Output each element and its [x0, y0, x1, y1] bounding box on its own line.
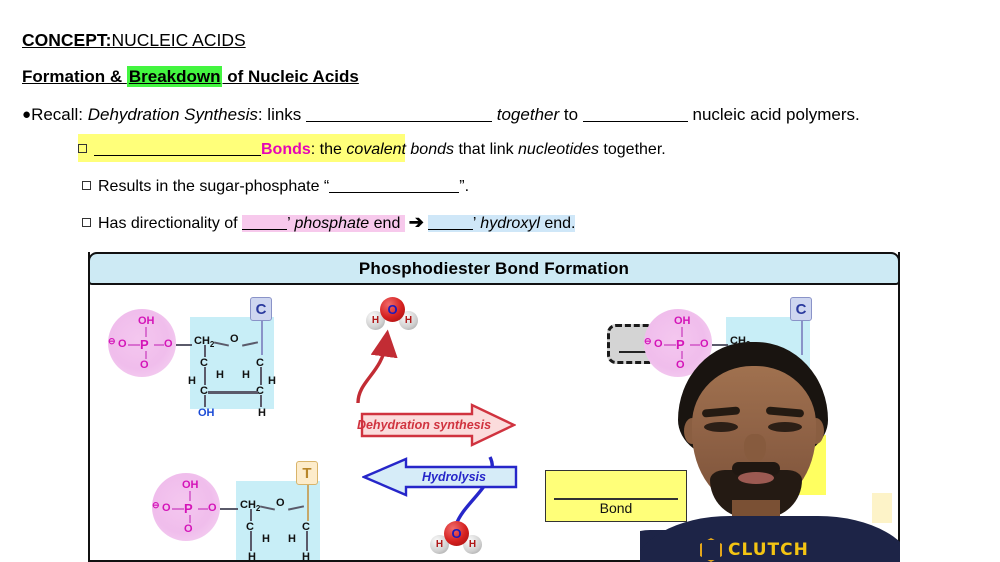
arrow-dehydration-synthesis: Dehydration synthesis — [360, 403, 516, 447]
bond-p-o-bottom — [189, 515, 191, 523]
nose — [744, 434, 766, 462]
bond-base-sugar — [307, 485, 309, 521]
bond-o-ch2 — [220, 508, 238, 510]
directionality-italic-1: phosphate — [294, 215, 369, 232]
right-arrow-icon: ➔ — [405, 212, 428, 232]
clutch-logo-text: CLUTCH — [728, 540, 809, 560]
results-blank[interactable] — [329, 192, 459, 193]
bond-ch2-c — [250, 509, 252, 521]
bond-c4-c5 — [208, 391, 258, 394]
phosphate-charge-label: ⊖ — [108, 336, 116, 347]
phosphate-o-bottom-label: O — [184, 523, 193, 535]
bond-c2-c4 — [250, 531, 252, 551]
directionality-line: Has directionality of ’ phosphate end ➔’… — [82, 212, 575, 233]
section-heading: Formation & Breakdown of Nucleic Acids — [22, 67, 359, 87]
bond-p-o-left — [128, 344, 140, 346]
figure-title-bar: Phosphodiester Bond Formation — [88, 252, 900, 285]
bond-base-sugar — [261, 321, 263, 355]
sugar-oh-label: OH — [198, 407, 215, 419]
recall-term: Dehydration Synthesis — [88, 105, 258, 124]
checkbox-icon[interactable] — [78, 144, 87, 153]
sugar-h-1-label: H — [216, 369, 224, 381]
directionality-end-1: end — [369, 215, 405, 232]
base-box-c: C — [250, 297, 272, 321]
phosphate-oh-label: OH — [674, 315, 691, 327]
phosphate-charge-label: ⊖ — [152, 500, 160, 511]
recall-mid-1: together — [492, 105, 559, 124]
sugar-h-4-label: H — [268, 375, 276, 387]
figure-title: Phosphodiester Bond Formation — [359, 259, 629, 279]
sugar-h-4-label: H — [302, 551, 310, 562]
bonds-mid: that link — [454, 141, 518, 158]
phosphate-o-bottom-label: O — [140, 359, 149, 371]
directionality-pre: Has directionality of — [98, 215, 242, 232]
recall-line: ●Recall: Dehydration Synthesis: links to… — [22, 105, 860, 125]
eye-right — [768, 422, 802, 432]
bullet-icon: ● — [22, 106, 31, 123]
arrow-hydrolysis-label: Hydrolysis — [376, 470, 532, 484]
eye-left — [704, 422, 738, 432]
results-pre: Results in the sugar-phosphate “ — [98, 178, 329, 195]
results-post: ”. — [459, 178, 469, 195]
phosphate-oh-label: OH — [182, 479, 199, 491]
bond-ch2-c — [204, 345, 206, 357]
bond-c3-c5 — [306, 531, 308, 551]
results-line: Results in the sugar-phosphate “”. — [82, 178, 469, 196]
base-box-c: C — [790, 297, 812, 321]
recall-tail: nucleic acid polymers. — [688, 105, 860, 124]
bonds-keyword: Bonds — [261, 141, 311, 158]
bond-c3-c5 — [260, 367, 262, 385]
recall-blank-2[interactable] — [583, 121, 688, 122]
phosphorus-label: P — [140, 337, 149, 352]
checkbox-icon[interactable] — [82, 218, 91, 227]
bond-c5-h — [260, 395, 262, 407]
sugar-h-2-label: H — [242, 369, 250, 381]
phosphate-o-right-label: O — [164, 338, 173, 350]
clutch-logo: CLUTCH — [700, 538, 809, 562]
bond-c4-oh — [204, 395, 206, 407]
concept-label: CONCEPT: — [22, 30, 111, 50]
hexagon-icon — [700, 538, 722, 562]
section-heading-pre: Formation & — [22, 67, 127, 86]
bond-p-o-right — [154, 344, 164, 346]
sugar-h-3-label: H — [188, 375, 196, 387]
bond-p-o-bottom — [145, 351, 147, 359]
recall-prefix: Recall: — [31, 105, 88, 124]
oxygen-atom: O — [444, 521, 469, 546]
instructor-webcam-overlay: CLUTCH — [640, 330, 900, 562]
dehydration-curve — [358, 343, 386, 403]
sugar-h-2-label: H — [288, 533, 296, 545]
bond-p-o-right — [198, 508, 208, 510]
bonds-italic-1: covalent bonds — [346, 141, 454, 158]
phosphate-o-left-label: O — [162, 502, 171, 514]
directionality-italic-2: hydroxyl — [480, 215, 540, 232]
bond-c2-c4 — [204, 367, 206, 385]
phosphate-o-left-label: O — [118, 338, 127, 350]
arrow-hydrolysis: Hydrolysis — [362, 457, 518, 497]
checkbox-icon[interactable] — [82, 181, 91, 190]
lips — [738, 472, 774, 484]
directionality-end-2: end. — [540, 215, 576, 232]
recall-after-term: : links — [258, 105, 306, 124]
water-molecule-bottom: H H O — [430, 521, 482, 555]
recall-mid-2: to — [559, 105, 583, 124]
directionality-blank-1[interactable] — [242, 229, 287, 230]
sugar-h-1-label: H — [262, 533, 270, 545]
bond-p-oh — [145, 327, 147, 337]
water-molecule-top: H H O — [366, 297, 418, 331]
phosphorus-label: P — [184, 501, 193, 516]
concept-value: NUCLEIC ACIDS — [111, 30, 245, 50]
bonds-tail: together. — [599, 141, 666, 158]
directionality-blank-2[interactable] — [428, 229, 473, 230]
recall-blank-1[interactable] — [306, 121, 492, 122]
bonds-blank[interactable] — [94, 155, 261, 156]
arrow-dehydration-label: Dehydration synthesis — [346, 418, 502, 432]
phosphate-o-right-label: O — [208, 502, 217, 514]
phosphate-oh-label: OH — [138, 315, 155, 327]
bonds-colon: : the — [311, 141, 347, 158]
bonds-definition-line: Bonds: the covalent bonds that link nucl… — [78, 141, 666, 159]
concept-heading: CONCEPT:NUCLEIC ACIDS — [22, 30, 246, 51]
bond-o-ch2 — [176, 344, 192, 346]
bond-p-oh — [189, 491, 191, 501]
sugar-h-3-label: H — [248, 551, 256, 562]
oxygen-atom: O — [380, 297, 405, 322]
ring-oxygen-label: O — [230, 333, 239, 345]
ring-oxygen-label: O — [276, 497, 285, 509]
section-heading-post: of Nucleic Acids — [222, 67, 358, 86]
bond-p-o-left — [172, 508, 184, 510]
sugar-h-5-label: H — [258, 407, 266, 419]
bonds-italic-2: nucleotides — [518, 141, 599, 158]
base-box-t: T — [296, 461, 318, 485]
section-heading-highlight: Breakdown — [127, 66, 223, 87]
